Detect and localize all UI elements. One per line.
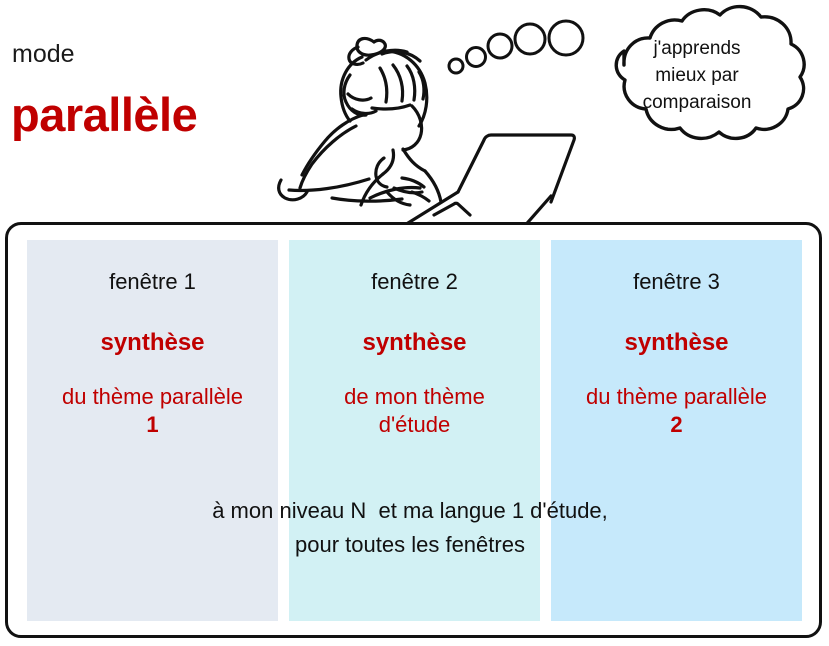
diagram-root: mode parallèle: [0, 0, 829, 646]
mode-label: mode: [12, 42, 75, 67]
panel-desc-number-3: 2: [551, 411, 802, 439]
panel-desc-text-3: du thème parallèle: [586, 384, 767, 409]
window-panel-2[interactable]: fenêtre 2 synthèse de mon thème d'étude: [289, 240, 540, 621]
panel-description-1: du thème parallèle 1: [27, 383, 278, 439]
page-title: parallèle: [11, 90, 197, 139]
panel-desc-number-1: 1: [27, 411, 278, 439]
panel-desc-text-2: de mon thème: [344, 384, 485, 409]
synthese-label-1: synthèse: [27, 331, 278, 355]
windows-panel-group: fenêtre 1 synthèse du thème parallèle 1 …: [27, 240, 802, 621]
panel-description-2: de mon thème d'étude: [289, 383, 540, 439]
cloud-line-1: j'apprends: [598, 36, 796, 63]
synthese-label-2: synthèse: [289, 331, 540, 355]
panels-caption: à mon niveau N et ma langue 1 d'étude, p…: [80, 494, 740, 562]
cloud-line-3: comparaison: [598, 90, 796, 117]
caption-line-1: à mon niveau N et ma langue 1 d'étude,: [80, 494, 740, 528]
window-panel-3[interactable]: fenêtre 3 synthèse du thème parallèle 2: [551, 240, 802, 621]
window-label-2: fenêtre 2: [289, 271, 540, 293]
panel-desc-text-1: du thème parallèle: [62, 384, 243, 409]
window-panel-1[interactable]: fenêtre 1 synthèse du thème parallèle 1: [27, 240, 278, 621]
caption-line-2: pour toutes les fenêtres: [80, 528, 740, 562]
thought-cloud-text: j'apprends mieux par comparaison: [598, 36, 796, 117]
cloud-line-2: mieux par: [598, 63, 796, 90]
panel-description-3: du thème parallèle 2: [551, 383, 802, 439]
window-label-3: fenêtre 3: [551, 271, 802, 293]
window-label-1: fenêtre 1: [27, 271, 278, 293]
synthese-label-3: synthèse: [551, 331, 802, 355]
panel-desc-number-2: d'étude: [289, 411, 540, 439]
